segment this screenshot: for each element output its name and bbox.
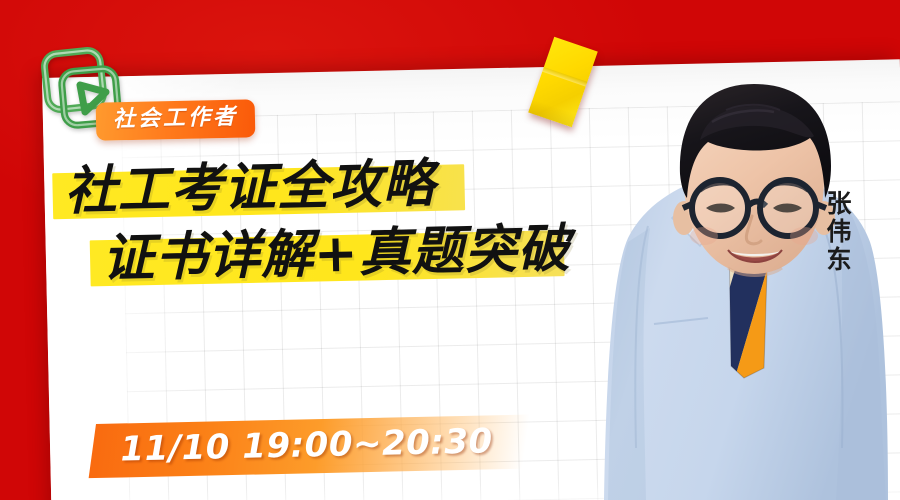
headline-line-1: 社工考证全攻略 bbox=[64, 152, 570, 223]
headline-line-2: 证书详解+真题突破 bbox=[101, 220, 571, 290]
headline-row-2: 证书详解+真题突破 bbox=[101, 220, 571, 290]
schedule-text: 11/10 19:00~20:30 bbox=[120, 424, 493, 466]
headline-block: 社工考证全攻略 证书详解+真题突破 bbox=[64, 152, 571, 291]
category-badge[interactable]: 社会工作者 bbox=[96, 99, 256, 140]
headline-row-1: 社工考证全攻略 bbox=[64, 152, 570, 223]
category-badge-label: 社会工作者 bbox=[113, 107, 238, 132]
instructor-name-char: 东 bbox=[822, 246, 856, 274]
instructor-name: 张 伟 东 bbox=[822, 190, 856, 274]
instructor-name-char: 伟 bbox=[822, 218, 856, 246]
instructor-name-char: 张 bbox=[822, 190, 856, 218]
promo-poster: 社会工作者 社工考证全攻略 证书详解+真题突破 bbox=[0, 0, 900, 500]
schedule-bar: 11/10 19:00~20:30 bbox=[89, 415, 531, 479]
